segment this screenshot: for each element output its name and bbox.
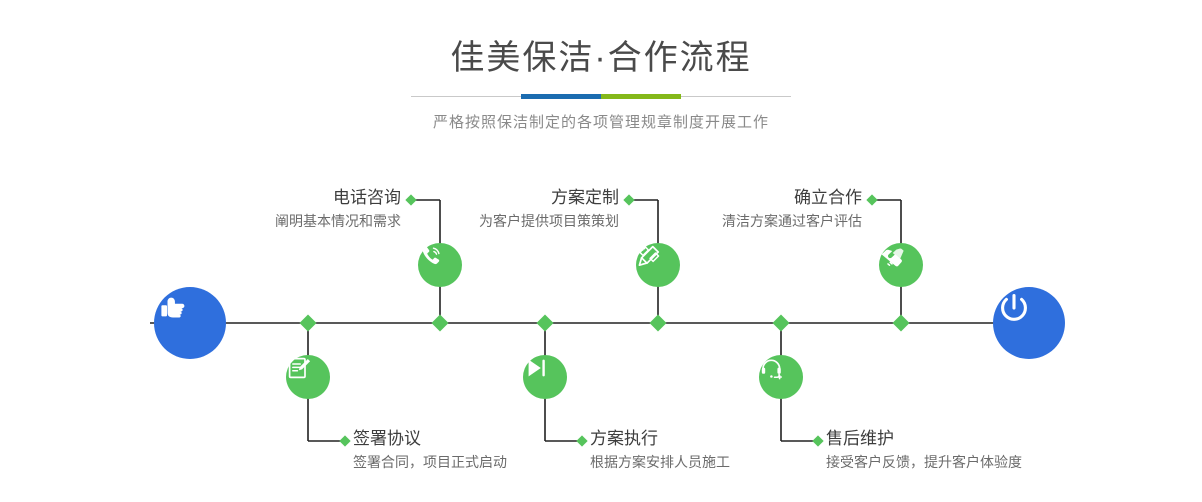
flow-start-node[interactable]: [154, 287, 226, 359]
label-sign-agreement: 签署协议 签署合同，项目正式启动: [353, 427, 613, 473]
step-icon-after-sales[interactable]: [759, 355, 803, 399]
step-icon-sign-agreement[interactable]: [286, 355, 330, 399]
step-title: 签署协议: [353, 427, 613, 451]
step-desc: 根据方案安排人员施工: [590, 451, 850, 473]
label-diamond-bottom-1: [339, 435, 350, 446]
step-title: 确立合作: [616, 186, 862, 210]
process-flow-diagram: 电话咨询 阐明基本情况和需求 方案定制 为客户提供项目策策划 确立合作 清洁方案…: [0, 0, 1202, 502]
step-title: 方案定制: [373, 186, 619, 210]
step-icon-plan-execution[interactable]: [523, 355, 567, 399]
step-desc: 阐明基本情况和需求: [155, 210, 401, 232]
flow-chart-page: 佳美保洁·合作流程 严格按照保洁制定的各项管理规章制度开展工作: [0, 0, 1202, 502]
step-desc: 接受客户反馈，提升客户体验度: [826, 451, 1106, 473]
label-node-markers: [339, 194, 877, 446]
label-after-sales: 售后维护 接受客户反馈，提升客户体验度: [826, 427, 1106, 473]
step-desc: 清洁方案通过客户评估: [616, 210, 862, 232]
axis-diamond-3: [537, 315, 554, 332]
step-desc: 为客户提供项目策策划: [373, 210, 619, 232]
axis-diamond-1: [300, 315, 317, 332]
label-phone-consultation: 电话咨询 阐明基本情况和需求: [155, 186, 401, 232]
axis-diamond-6: [893, 315, 910, 332]
axis-diamond-4: [650, 315, 667, 332]
step-title: 售后维护: [826, 427, 1106, 451]
step-icon-plan-customization[interactable]: [636, 243, 680, 287]
step-desc: 签署合同，项目正式启动: [353, 451, 613, 473]
step-title: 方案执行: [590, 427, 850, 451]
step-icon-phone-consultation[interactable]: [418, 243, 462, 287]
label-diamond-top-3: [866, 194, 877, 205]
step-icon-establish-cooperation[interactable]: [879, 243, 923, 287]
flow-end-node[interactable]: [993, 287, 1065, 359]
label-establish-cooperation: 确立合作 清洁方案通过客户评估: [616, 186, 862, 232]
label-plan-customization: 方案定制 为客户提供项目策策划: [373, 186, 619, 232]
axis-diamond-2: [432, 315, 449, 332]
label-plan-execution: 方案执行 根据方案安排人员施工: [590, 427, 850, 473]
axis-diamond-5: [773, 315, 790, 332]
step-title: 电话咨询: [155, 186, 401, 210]
